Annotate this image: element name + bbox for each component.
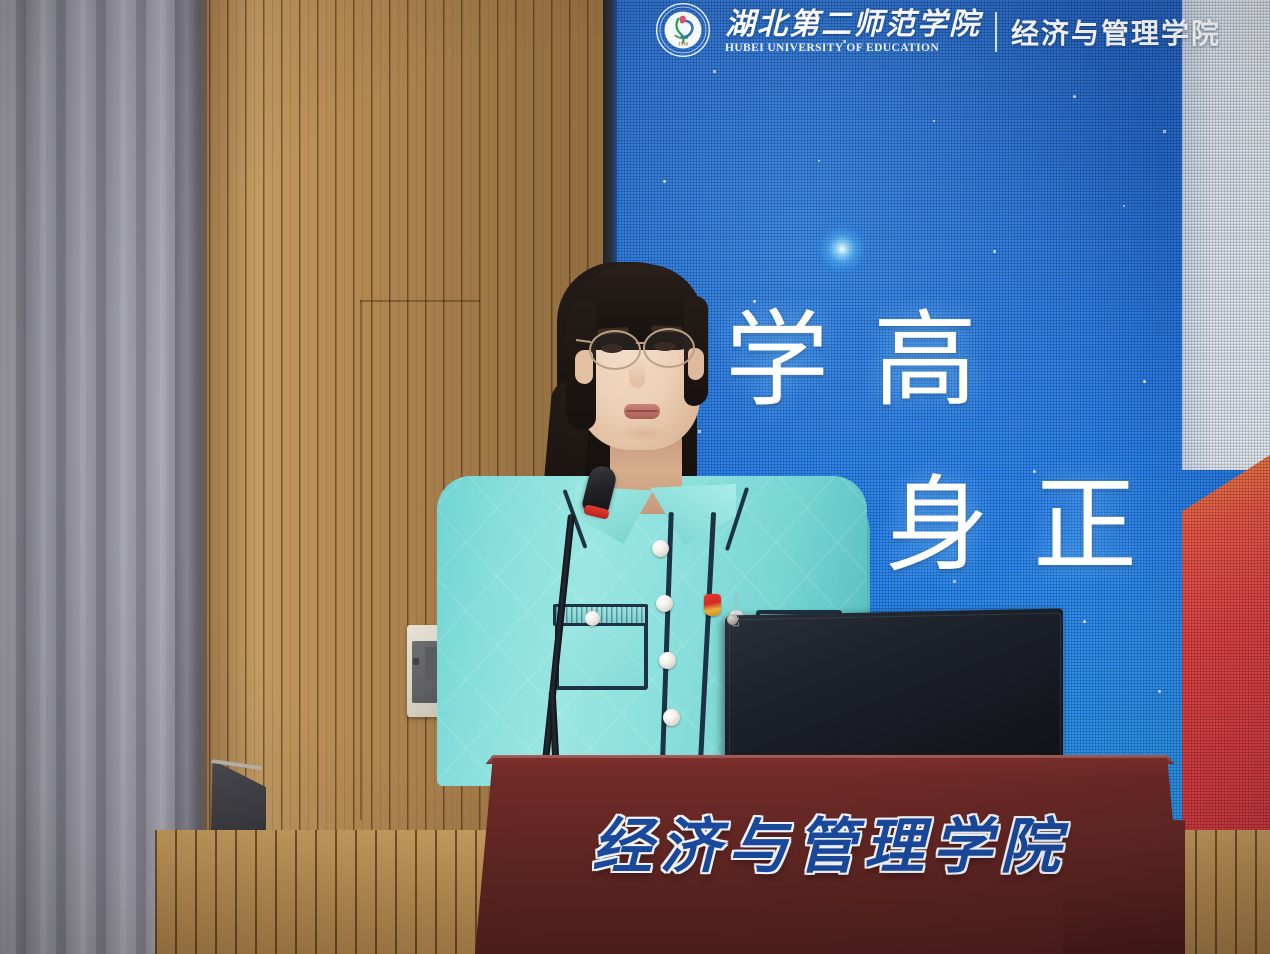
pocket-button-left — [585, 611, 600, 626]
cardigan-button — [652, 540, 669, 557]
cardigan-button — [663, 709, 680, 726]
wall-panel-indicator — [413, 658, 419, 665]
slogan-line-1: 学高 — [725, 275, 1021, 426]
wood-seam — [360, 300, 362, 820]
star-speck — [1123, 205, 1125, 207]
lapel-pin-icon — [704, 594, 721, 616]
cardigan-button — [656, 595, 673, 612]
star-speck — [1158, 690, 1161, 693]
svg-text:1936: 1936 — [678, 42, 689, 48]
curtain-edge-fold — [175, 0, 207, 954]
star-speck — [993, 250, 996, 253]
laptop-brand-logo: Lenovo — [731, 591, 741, 627]
star-speck — [1083, 620, 1086, 623]
star-speck — [818, 160, 820, 162]
star-speck — [663, 180, 666, 183]
photo-scene: 1936 湖北第二师范学院 HUBEI UNIVERSITY OF EDUCAT… — [0, 0, 1270, 954]
laptop-bezel — [729, 613, 1061, 772]
department-name-cn: 经济与管理学院 — [1011, 12, 1221, 52]
gray-curtain — [0, 0, 200, 954]
brand-divider — [995, 12, 997, 52]
cardigan-pocket-flap-left — [553, 604, 648, 626]
star-speck — [1163, 130, 1166, 133]
star-speck — [1073, 95, 1076, 98]
led-white-band — [1182, 0, 1270, 470]
led-red-graphic — [1182, 455, 1270, 858]
university-name-cn: 湖北第二师范学院 — [725, 10, 981, 40]
star-speck — [1143, 380, 1146, 383]
glasses-lens-right — [643, 328, 695, 368]
lip-line — [626, 410, 658, 412]
cardigan-button — [659, 652, 676, 669]
podium-nameplate: 经济与管理学院 — [560, 798, 1100, 885]
star-speck — [698, 430, 701, 433]
wood-seam — [360, 300, 480, 302]
glasses-bridge — [636, 342, 645, 344]
slogan-line-2: 身正 — [885, 440, 1181, 591]
screen-brand-header: 1936 湖北第二师范学院 HUBEI UNIVERSITY OF EDUCAT… — [655, 0, 1221, 64]
university-emblem-icon: 1936 — [655, 2, 711, 58]
nose — [629, 358, 645, 388]
star-speck — [713, 70, 716, 73]
star-glow-highlight — [815, 222, 869, 276]
university-name-en: HUBEI UNIVERSITY OF EDUCATION — [725, 43, 981, 55]
chin-shadow — [616, 424, 668, 442]
star-speck — [933, 120, 935, 122]
